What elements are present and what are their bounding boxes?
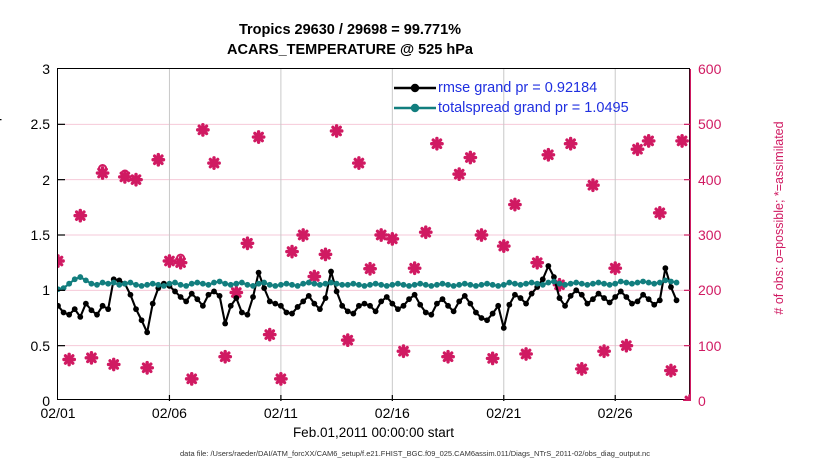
x-axis-tick: 02/01 [40, 405, 75, 421]
y-axis-left-tick: 0.5 [31, 338, 50, 354]
x-axis-tick: 02/26 [598, 405, 633, 421]
x-axis-tick: 02/11 [264, 405, 298, 421]
y-axis-right-tick: 300 [698, 227, 721, 243]
legend-item-totalspread[interactable]: totalspread grand pr = 1.0495 [392, 98, 629, 118]
y-axis-left-label: rmse and totalspread [0, 87, 2, 214]
y-axis-right-tick: 600 [698, 61, 721, 77]
chart-title: Tropics 29630 / 29698 = 99.771% ACARS_TE… [0, 20, 700, 60]
title-line-1: Tropics 29630 / 29698 = 99.771% [0, 20, 700, 40]
y-axis-right-tick: 200 [698, 282, 721, 298]
y-axis-right-tick: 0 [698, 393, 706, 409]
figure-root: Tropics 29630 / 29698 = 99.771% ACARS_TE… [0, 0, 830, 470]
x-axis-tick: 02/21 [486, 405, 521, 421]
plot-canvas [58, 69, 691, 401]
legend-marker-rmse [392, 78, 438, 98]
legend-marker-totalspread [392, 98, 438, 118]
data-file-path: data file: /Users/raeder/DAI/ATM_forcXX/… [0, 449, 830, 458]
y-axis-left-tick: 3 [42, 61, 50, 77]
legend: rmse grand pr = 0.92184 totalspread gran… [392, 78, 629, 118]
title-line-2: ACARS_TEMPERATURE @ 525 hPa [0, 40, 700, 60]
x-axis-tick: 02/16 [375, 405, 410, 421]
y-axis-right-tick: 100 [698, 338, 721, 354]
y-axis-left-tick: 2.5 [31, 116, 50, 132]
y-axis-right-tick: 400 [698, 172, 721, 188]
y-axis-left-tick: 1 [42, 282, 50, 298]
legend-label-totalspread: totalspread grand pr = 1.0495 [438, 98, 629, 118]
y-axis-right-tick: 500 [698, 116, 721, 132]
y-axis-left-tick: 1.5 [31, 227, 50, 243]
x-axis-tick: 02/06 [152, 405, 187, 421]
y-axis-left-tick: 2 [42, 172, 50, 188]
legend-label-rmse: rmse grand pr = 0.92184 [438, 78, 597, 98]
y-axis-right-label: # of obs: o=possible; *=assimilated [772, 121, 786, 314]
legend-item-rmse[interactable]: rmse grand pr = 0.92184 [392, 78, 629, 98]
x-axis-label: Feb.01,2011 00:00:00 start [57, 425, 690, 440]
